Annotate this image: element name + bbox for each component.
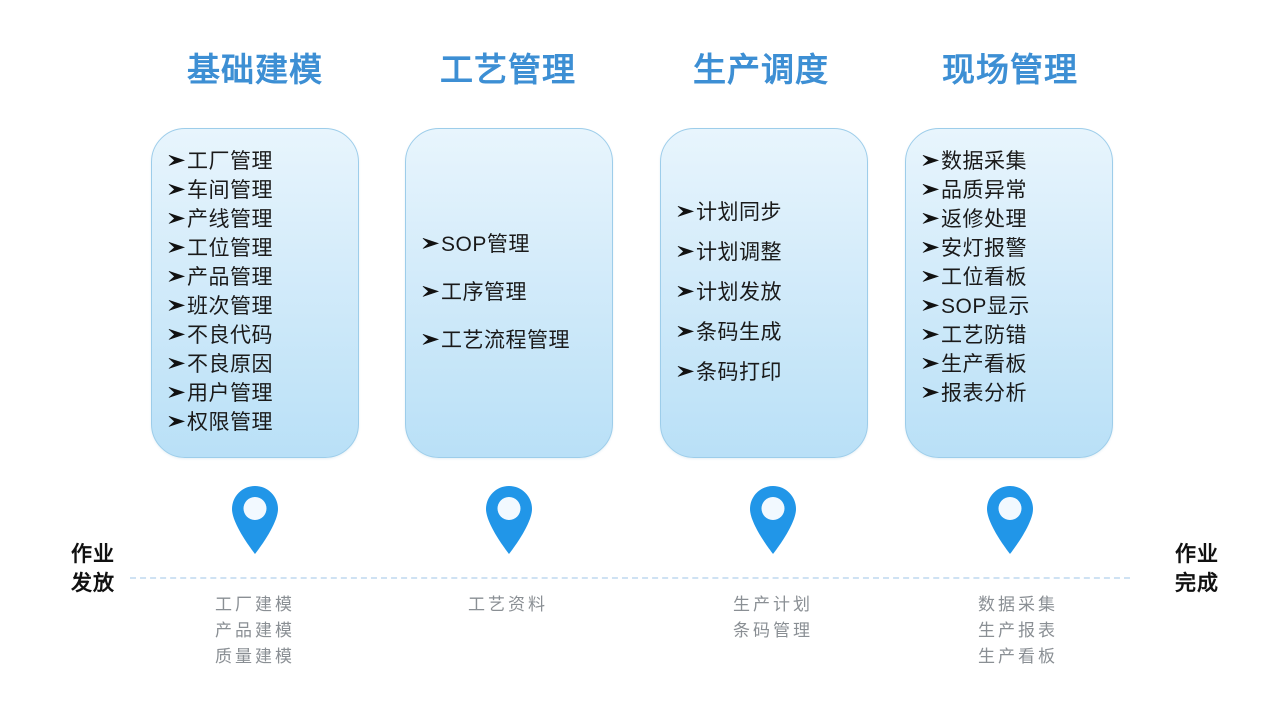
label-work-release-line1: 作业 xyxy=(38,540,148,569)
list-item-label: 条码生成 xyxy=(696,313,782,353)
list-item-label: 不良代码 xyxy=(187,321,273,350)
label-work-complete-line1: 作业 xyxy=(1142,540,1252,569)
arrow-bullet-icon xyxy=(922,241,940,254)
list-item[interactable]: 不良原因 xyxy=(168,350,358,379)
process-flow-diagram: 基础建模 工艺管理 生产调度 现场管理 工厂管理车间管理产线管理工位管理产品管理… xyxy=(0,0,1280,720)
list-item-label: 品质异常 xyxy=(941,176,1027,205)
arrow-bullet-icon xyxy=(922,357,940,370)
arrow-bullet-icon xyxy=(922,212,940,225)
caption-line: 工艺资料 xyxy=(388,592,628,618)
arrow-bullet-icon xyxy=(922,270,940,283)
arrow-bullet-icon xyxy=(168,328,186,341)
list-item-label: 条码打印 xyxy=(696,353,782,393)
list-item[interactable]: 工位管理 xyxy=(168,234,358,263)
list-item[interactable]: 条码打印 xyxy=(677,353,867,393)
arrow-bullet-icon xyxy=(168,299,186,312)
column-title-onsite-management: 现场管理 xyxy=(890,50,1130,90)
list-item[interactable]: 安灯报警 xyxy=(922,234,1112,263)
arrow-bullet-icon xyxy=(677,325,695,338)
arrow-bullet-icon xyxy=(677,245,695,258)
arrow-bullet-icon xyxy=(422,333,440,346)
card-process-management: SOP管理工序管理工艺流程管理 xyxy=(405,128,613,458)
list-item[interactable]: 产品管理 xyxy=(168,263,358,292)
arrow-bullet-icon xyxy=(922,328,940,341)
list-item-label: 工序管理 xyxy=(441,269,527,317)
caption-group-4: 数据采集生产报表生产看板 xyxy=(898,592,1138,670)
column-title-process-management: 工艺管理 xyxy=(388,50,628,90)
arrow-bullet-icon xyxy=(422,237,440,250)
list-item[interactable]: 计划同步 xyxy=(677,193,867,233)
list-item-label: 不良原因 xyxy=(187,350,273,379)
list-item-label: 返修处理 xyxy=(941,205,1027,234)
caption-line: 质量建模 xyxy=(135,644,375,670)
list-item[interactable]: 工序管理 xyxy=(422,269,612,317)
arrow-bullet-icon xyxy=(677,205,695,218)
list-item[interactable]: 计划发放 xyxy=(677,273,867,313)
arrow-bullet-icon xyxy=(168,357,186,370)
arrow-bullet-icon xyxy=(168,183,186,196)
arrow-bullet-icon xyxy=(168,270,186,283)
list-item-label: 权限管理 xyxy=(187,408,273,437)
arrow-bullet-icon xyxy=(168,212,186,225)
arrow-bullet-icon xyxy=(168,154,186,167)
list-item[interactable]: 数据采集 xyxy=(922,147,1112,176)
list-item[interactable]: 工厂管理 xyxy=(168,147,358,176)
label-work-complete: 作业 完成 xyxy=(1142,540,1252,598)
list-item-label: 工厂管理 xyxy=(187,147,273,176)
list-item-label: 安灯报警 xyxy=(941,234,1027,263)
list-item[interactable]: SOP显示 xyxy=(922,292,1112,321)
list-item-label: 工艺防错 xyxy=(941,321,1027,350)
list-item[interactable]: 产线管理 xyxy=(168,205,358,234)
list-item[interactable]: 生产看板 xyxy=(922,350,1112,379)
caption-line: 生产计划 xyxy=(653,592,893,618)
arrow-bullet-icon xyxy=(677,365,695,378)
list-item[interactable]: 班次管理 xyxy=(168,292,358,321)
arrow-bullet-icon xyxy=(168,415,186,428)
timeline-dashed-axis xyxy=(130,577,1130,579)
list-item[interactable]: 不良代码 xyxy=(168,321,358,350)
caption-group-2: 工艺资料 xyxy=(388,592,628,618)
list-item[interactable]: 报表分析 xyxy=(922,379,1112,408)
arrow-bullet-icon xyxy=(922,183,940,196)
list-item-label: 车间管理 xyxy=(187,176,273,205)
map-pin-icon-3 xyxy=(745,482,801,558)
map-pin-icon-2 xyxy=(481,482,537,558)
list-item[interactable]: 品质异常 xyxy=(922,176,1112,205)
list-item[interactable]: 车间管理 xyxy=(168,176,358,205)
list-item-label: SOP显示 xyxy=(941,292,1030,321)
caption-line: 数据采集 xyxy=(898,592,1138,618)
caption-line: 生产报表 xyxy=(898,618,1138,644)
list-item-label: 计划同步 xyxy=(696,193,782,233)
list-item[interactable]: 计划调整 xyxy=(677,233,867,273)
caption-group-3: 生产计划条码管理 xyxy=(653,592,893,644)
list-item[interactable]: 工位看板 xyxy=(922,263,1112,292)
list-item[interactable]: 工艺流程管理 xyxy=(422,317,612,365)
list-item[interactable]: 工艺防错 xyxy=(922,321,1112,350)
list-item-label: 工位管理 xyxy=(187,234,273,263)
card-onsite-management: 数据采集品质异常返修处理安灯报警工位看板SOP显示工艺防错生产看板报表分析 xyxy=(905,128,1113,458)
caption-line: 工厂建模 xyxy=(135,592,375,618)
list-item-label: SOP管理 xyxy=(441,221,530,269)
list-item[interactable]: 权限管理 xyxy=(168,408,358,437)
arrow-bullet-icon xyxy=(168,386,186,399)
label-work-release-line2: 发放 xyxy=(38,569,148,598)
arrow-bullet-icon xyxy=(422,285,440,298)
caption-line: 生产看板 xyxy=(898,644,1138,670)
list-item-label: 数据采集 xyxy=(941,147,1027,176)
map-pin-icon-1 xyxy=(227,482,283,558)
caption-line: 条码管理 xyxy=(653,618,893,644)
list-item[interactable]: SOP管理 xyxy=(422,221,612,269)
caption-line: 产品建模 xyxy=(135,618,375,644)
list-item-label: 产线管理 xyxy=(187,205,273,234)
arrow-bullet-icon xyxy=(168,241,186,254)
arrow-bullet-icon xyxy=(677,285,695,298)
list-item[interactable]: 返修处理 xyxy=(922,205,1112,234)
list-item-label: 生产看板 xyxy=(941,350,1027,379)
list-item-label: 班次管理 xyxy=(187,292,273,321)
label-work-release: 作业 发放 xyxy=(38,540,148,598)
list-item-label: 计划调整 xyxy=(696,233,782,273)
list-item-label: 产品管理 xyxy=(187,263,273,292)
list-item-label: 计划发放 xyxy=(696,273,782,313)
card-basic-modeling: 工厂管理车间管理产线管理工位管理产品管理班次管理不良代码不良原因用户管理权限管理 xyxy=(151,128,359,458)
card-production-scheduling: 计划同步计划调整计划发放条码生成条码打印 xyxy=(660,128,868,458)
caption-group-1: 工厂建模产品建模质量建模 xyxy=(135,592,375,670)
list-item[interactable]: 用户管理 xyxy=(168,379,358,408)
list-item-label: 报表分析 xyxy=(941,379,1027,408)
column-title-basic-modeling: 基础建模 xyxy=(135,50,375,90)
arrow-bullet-icon xyxy=(922,386,940,399)
arrow-bullet-icon xyxy=(922,154,940,167)
label-work-complete-line2: 完成 xyxy=(1142,569,1252,598)
arrow-bullet-icon xyxy=(922,299,940,312)
column-title-production-scheduling: 生产调度 xyxy=(641,50,881,90)
list-item-label: 用户管理 xyxy=(187,379,273,408)
list-item-label: 工艺流程管理 xyxy=(441,317,570,365)
list-item-label: 工位看板 xyxy=(941,263,1027,292)
map-pin-icon-4 xyxy=(982,482,1038,558)
list-item[interactable]: 条码生成 xyxy=(677,313,867,353)
